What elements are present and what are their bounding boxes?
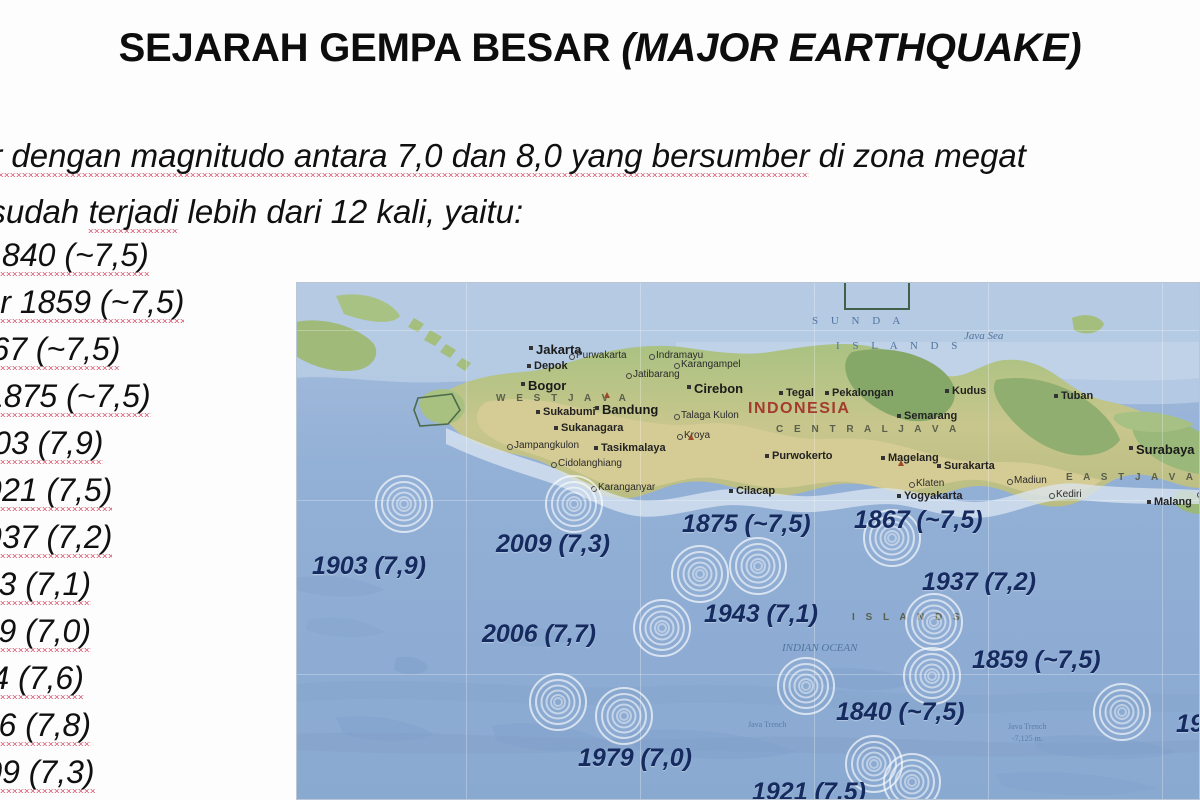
list-item-label: t. 2009 (7,3) bbox=[0, 754, 95, 793]
volcano-icon bbox=[604, 392, 610, 398]
graticule-line-horizontal bbox=[296, 330, 1200, 331]
map-city-label: Semarang bbox=[904, 410, 957, 422]
volcano-icon bbox=[688, 434, 694, 440]
map-city-dot bbox=[945, 389, 949, 393]
map-city-dot bbox=[1147, 500, 1151, 504]
map-city-dot bbox=[1054, 394, 1058, 398]
map-city-label: Jatibarang bbox=[633, 369, 680, 380]
map-city-dot bbox=[626, 373, 632, 379]
map-sea-label: Java Sea bbox=[964, 330, 1003, 342]
list-item-label: ktober 1859 (~7,5) bbox=[0, 284, 184, 323]
list-item: ni 1867 (~7,5) bbox=[0, 326, 342, 373]
earthquake-year-label: 1859 (~7,5) bbox=[972, 646, 1101, 675]
graticule-line-vertical bbox=[988, 282, 989, 800]
map-city-label: Cilacap bbox=[736, 485, 775, 497]
list-item-label: i 1994 (7,6) bbox=[0, 660, 84, 699]
map-city-label: Cirebon bbox=[694, 381, 743, 396]
map-city-label: Depok bbox=[534, 360, 568, 372]
map-city-dot bbox=[527, 364, 531, 368]
country-label-indonesia: INDONESIA bbox=[748, 400, 850, 418]
earthquake-year-label: 1943 (7,1) bbox=[704, 600, 818, 629]
earthquake-list: uari 1840 (~7,5)ktober 1859 (~7,5)ni 186… bbox=[0, 232, 342, 796]
map-city-label: Kediri bbox=[1056, 489, 1082, 500]
map-city-dot bbox=[765, 454, 769, 458]
list-item: li 2006 (7,8) bbox=[0, 702, 342, 749]
graticule-line-vertical bbox=[466, 282, 467, 800]
earthquake-year-label: 1867 (~7,5) bbox=[854, 506, 983, 535]
java-megathrust-map: JakartaDepokBogorCirebonBandungSukabumiS… bbox=[296, 282, 1200, 800]
list-item-label: ni 1867 (~7,5) bbox=[0, 331, 120, 370]
page-title: SEJARAH GEMPA BESAR (MAJOR EARTHQUAKE) bbox=[0, 26, 1200, 71]
earthquake-year-label: 1921 (7,5) bbox=[752, 778, 866, 800]
map-city-dot bbox=[881, 456, 885, 460]
map-city-dot bbox=[825, 391, 829, 395]
list-item-label: il 1943 (7,1) bbox=[0, 566, 91, 605]
map-city-dot bbox=[1049, 493, 1055, 499]
map-city-label: Jampangkulon bbox=[514, 440, 579, 451]
graticule-line-horizontal bbox=[296, 500, 1200, 501]
paragraph-line2-part-c: terjadi bbox=[88, 193, 178, 233]
earthquake-year-label: 1840 (~7,5) bbox=[836, 698, 965, 727]
map-region-label: C E N T R A L J A V A bbox=[776, 424, 960, 435]
earthquake-year-label: 1937 (7,2) bbox=[922, 568, 1036, 597]
map-city-label: Surakarta bbox=[944, 460, 995, 472]
map-city-dot bbox=[674, 414, 680, 420]
earthquake-year-label: 1875 (~7,5) bbox=[682, 510, 811, 539]
map-city-label: Malang bbox=[1154, 496, 1192, 508]
map-city-dot bbox=[594, 446, 598, 450]
map-city-dot bbox=[729, 489, 733, 493]
map-city-dot bbox=[1129, 446, 1133, 450]
map-trench-label: Java Trench bbox=[748, 720, 786, 729]
map-sea-label: S U N D A bbox=[812, 315, 905, 327]
list-item: t. 2009 (7,3) bbox=[0, 749, 342, 796]
map-city-dot bbox=[536, 410, 540, 414]
map-city-label: Cidolanghiang bbox=[558, 458, 622, 469]
list-item: uari 1840 (~7,5) bbox=[0, 232, 342, 279]
list-item-label: uari 1840 (~7,5) bbox=[0, 237, 149, 276]
map-city-dot bbox=[779, 391, 783, 395]
map-city-label: Kudus bbox=[952, 385, 986, 397]
map-city-dot bbox=[591, 486, 597, 492]
list-item: pt. 1937 (7,2) bbox=[0, 514, 342, 561]
list-item-label: li 2006 (7,8) bbox=[0, 707, 91, 746]
earthquake-year-label: 2006 (7,7) bbox=[482, 620, 596, 649]
volcano-icon bbox=[898, 460, 904, 466]
list-item-label: pt. 1921 (7,5) bbox=[0, 472, 112, 511]
map-city-label: Bandung bbox=[602, 402, 658, 417]
earthquake-year-label: 1979 (7,0) bbox=[578, 744, 692, 773]
map-city-dot bbox=[897, 494, 901, 498]
paragraph-line2-part-d: lebih dari 12 kali, yaitu: bbox=[178, 193, 523, 230]
map-sea-label: INDIAN OCEAN bbox=[782, 642, 857, 654]
map-city-label: Yogyakarta bbox=[904, 490, 963, 502]
map-city-dot bbox=[909, 482, 915, 488]
map-city-dot bbox=[897, 414, 901, 418]
map-city-label: Tuban bbox=[1061, 390, 1093, 402]
title-main-text: SEJARAH GEMPA BESAR bbox=[119, 26, 622, 70]
map-city-dot bbox=[507, 444, 513, 450]
map-city-dot bbox=[677, 434, 683, 440]
map-city-dot bbox=[649, 354, 655, 360]
list-item-label: b. 1903 (7,9) bbox=[0, 425, 103, 464]
map-sea-label: I S L A N D S bbox=[836, 340, 962, 352]
title-italic-text: (MAJOR EARTHQUAKE) bbox=[621, 26, 1081, 70]
map-region-label: I S L A N D S bbox=[852, 612, 964, 623]
map-city-label: Indramayu bbox=[656, 350, 703, 361]
map-city-label: Magelang bbox=[888, 452, 939, 464]
paragraph-line-1: esar dengan magnitudo antara 7,0 dan 8,0… bbox=[0, 137, 1026, 177]
map-city-dot bbox=[937, 464, 941, 468]
list-item: ktober 1859 (~7,5) bbox=[0, 279, 342, 326]
list-item: li 1979 (7,0) bbox=[0, 608, 342, 655]
list-item: b. 1903 (7,9) bbox=[0, 420, 342, 467]
graticule-line-vertical bbox=[640, 282, 641, 800]
map-city-dot bbox=[551, 462, 557, 468]
map-city-dot bbox=[521, 382, 525, 386]
map-trench-label: -7,125 m. bbox=[1012, 734, 1043, 743]
paragraph-line2-part-b: sudah bbox=[0, 193, 88, 230]
graticule-line-vertical bbox=[1162, 282, 1163, 800]
map-city-label: Sukabumi bbox=[543, 406, 596, 418]
map-city-dot bbox=[569, 354, 575, 360]
intro-paragraph: esar dengan magnitudo antara 7,0 dan 8,0… bbox=[0, 128, 1200, 240]
map-city-label: Purwakarta bbox=[576, 350, 627, 361]
map-city-label: Karanganyar bbox=[598, 482, 655, 493]
list-item-label: li 1979 (7,0) bbox=[0, 613, 91, 652]
slide-page: SEJARAH GEMPA BESAR (MAJOR EARTHQUAKE) e… bbox=[0, 0, 1200, 800]
list-item-label: aret 1875 (~7,5) bbox=[0, 378, 151, 417]
list-item: il 1943 (7,1) bbox=[0, 561, 342, 608]
list-item: aret 1875 (~7,5) bbox=[0, 373, 342, 420]
map-city-dot bbox=[529, 346, 533, 350]
map-city-label: Talaga Kulon bbox=[681, 410, 739, 421]
map-inset-box bbox=[844, 282, 910, 310]
map-region-label: E A S T J A V A bbox=[1066, 472, 1197, 483]
earthquake-year-label: 2009 (7,3) bbox=[496, 530, 610, 559]
graticule-line-vertical bbox=[814, 282, 815, 800]
map-city-label: Klaten bbox=[916, 478, 944, 489]
map-city-label: Madiun bbox=[1014, 475, 1047, 486]
map-city-label: Tegal bbox=[786, 387, 814, 399]
map-city-dot bbox=[1007, 479, 1013, 485]
list-item: i 1994 (7,6) bbox=[0, 655, 342, 702]
map-city-label: Tasikmalaya bbox=[601, 442, 666, 454]
paragraph-line1-part-a: esar dengan magnitudo antara 7,0 dan 8,0… bbox=[0, 137, 652, 177]
map-city-dot bbox=[554, 426, 558, 430]
list-item: pt. 1921 (7,5) bbox=[0, 467, 342, 514]
list-item-label: pt. 1937 (7,2) bbox=[0, 519, 112, 558]
map-city-label: Bogor bbox=[528, 378, 566, 393]
map-trench-label: Java Trench bbox=[1008, 722, 1046, 731]
paragraph-line1-part-c: di zona megat bbox=[809, 137, 1025, 174]
earthquake-year-label: 19 bbox=[1176, 710, 1200, 739]
map-city-dot bbox=[595, 406, 599, 410]
paragraph-line1-part-b: bersumber bbox=[652, 137, 810, 177]
map-city-label: Pekalongan bbox=[832, 387, 894, 399]
map-city-dot bbox=[687, 385, 691, 389]
earthquake-year-label: 1903 (7,9) bbox=[312, 552, 426, 581]
map-city-label: Surabaya bbox=[1136, 442, 1195, 457]
map-city-label: Purwokerto bbox=[772, 450, 833, 462]
map-city-label: Sukanagara bbox=[561, 422, 623, 434]
